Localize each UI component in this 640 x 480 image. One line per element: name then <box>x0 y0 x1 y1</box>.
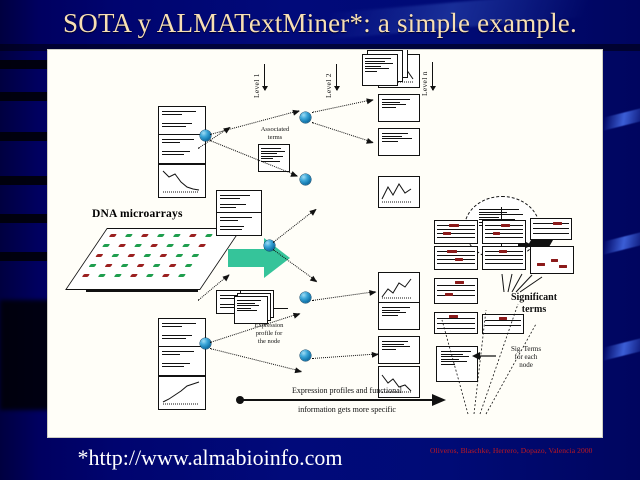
associated-label: Associated <box>246 126 304 134</box>
expression-curve-icon <box>379 177 417 205</box>
level-n-label: Level n <box>420 56 429 96</box>
background-streak <box>604 107 640 131</box>
level-n-tick <box>432 62 433 90</box>
level-2-tick <box>336 64 337 90</box>
gene-cell-box <box>216 212 262 236</box>
tree-edge <box>312 122 373 143</box>
level2-gene-box-upper-2 <box>158 134 206 164</box>
level-1-tick <box>264 64 265 90</box>
expression-profile-label-2: profile for <box>240 330 298 338</box>
axis-caption-line2: information gets more specific <box>224 405 470 414</box>
expression-plot-upper <box>158 164 206 198</box>
dna-microarray-chip <box>65 228 242 290</box>
level-2-label: Level 2 <box>324 58 333 98</box>
significant-term-doc <box>530 246 574 274</box>
microarray-baseline <box>86 290 198 292</box>
leveln-gene-box <box>378 94 420 122</box>
process-arrow <box>228 238 290 278</box>
leveln-expression-plot-2 <box>378 176 420 208</box>
tree-node-level3-b[interactable] <box>300 174 311 185</box>
citation-text: Oliveros, Blaschke, Herrero, Dopazo, Val… <box>430 446 630 455</box>
significant-term-doc <box>482 220 526 244</box>
slide-title: SOTA y ALMATextMiner*: a simple example. <box>0 6 640 40</box>
tree-edge <box>210 348 301 372</box>
expression-profile-label-3: the node <box>240 338 298 346</box>
level2-gene-box-lower <box>158 318 206 348</box>
expression-curve-icon <box>159 165 203 195</box>
tree-edge <box>312 291 376 301</box>
tree-edge <box>273 209 316 243</box>
tree-node-level3-c[interactable] <box>300 292 311 303</box>
tree-node-level3-a[interactable] <box>300 112 311 123</box>
tree-node-level3-d[interactable] <box>300 350 311 361</box>
background-streak <box>604 337 640 361</box>
dna-microarrays-label: DNA microarrays <box>92 208 183 220</box>
level2-gene-box-upper <box>158 106 206 136</box>
progress-axis <box>240 399 448 400</box>
significant-term-doc <box>434 220 478 244</box>
footer-url[interactable]: *http://www.almabioinfo.com <box>0 445 420 471</box>
tree-edge <box>312 353 378 359</box>
significant-terms-fan-icon <box>500 272 556 294</box>
background-shadow <box>0 300 52 410</box>
diagram-panel: Level 1 Level 2 Level n DNA microarrays <box>48 50 602 437</box>
leveln-gene-box <box>378 128 420 156</box>
gene-cell-box <box>216 190 262 214</box>
significant-term-doc <box>530 218 572 240</box>
associated-sublabel: terms <box>246 134 304 142</box>
background-streak <box>604 231 640 255</box>
expression-curve-icon <box>379 273 417 301</box>
tree-edge <box>312 99 373 113</box>
significant-term-doc <box>434 246 478 270</box>
level-1-label: Level 1 <box>252 58 261 98</box>
significant-term-doc <box>482 246 526 270</box>
level2-gene-box-lower-2 <box>158 346 206 376</box>
expression-plot-lower <box>158 376 206 410</box>
expression-curve-icon <box>159 377 203 407</box>
